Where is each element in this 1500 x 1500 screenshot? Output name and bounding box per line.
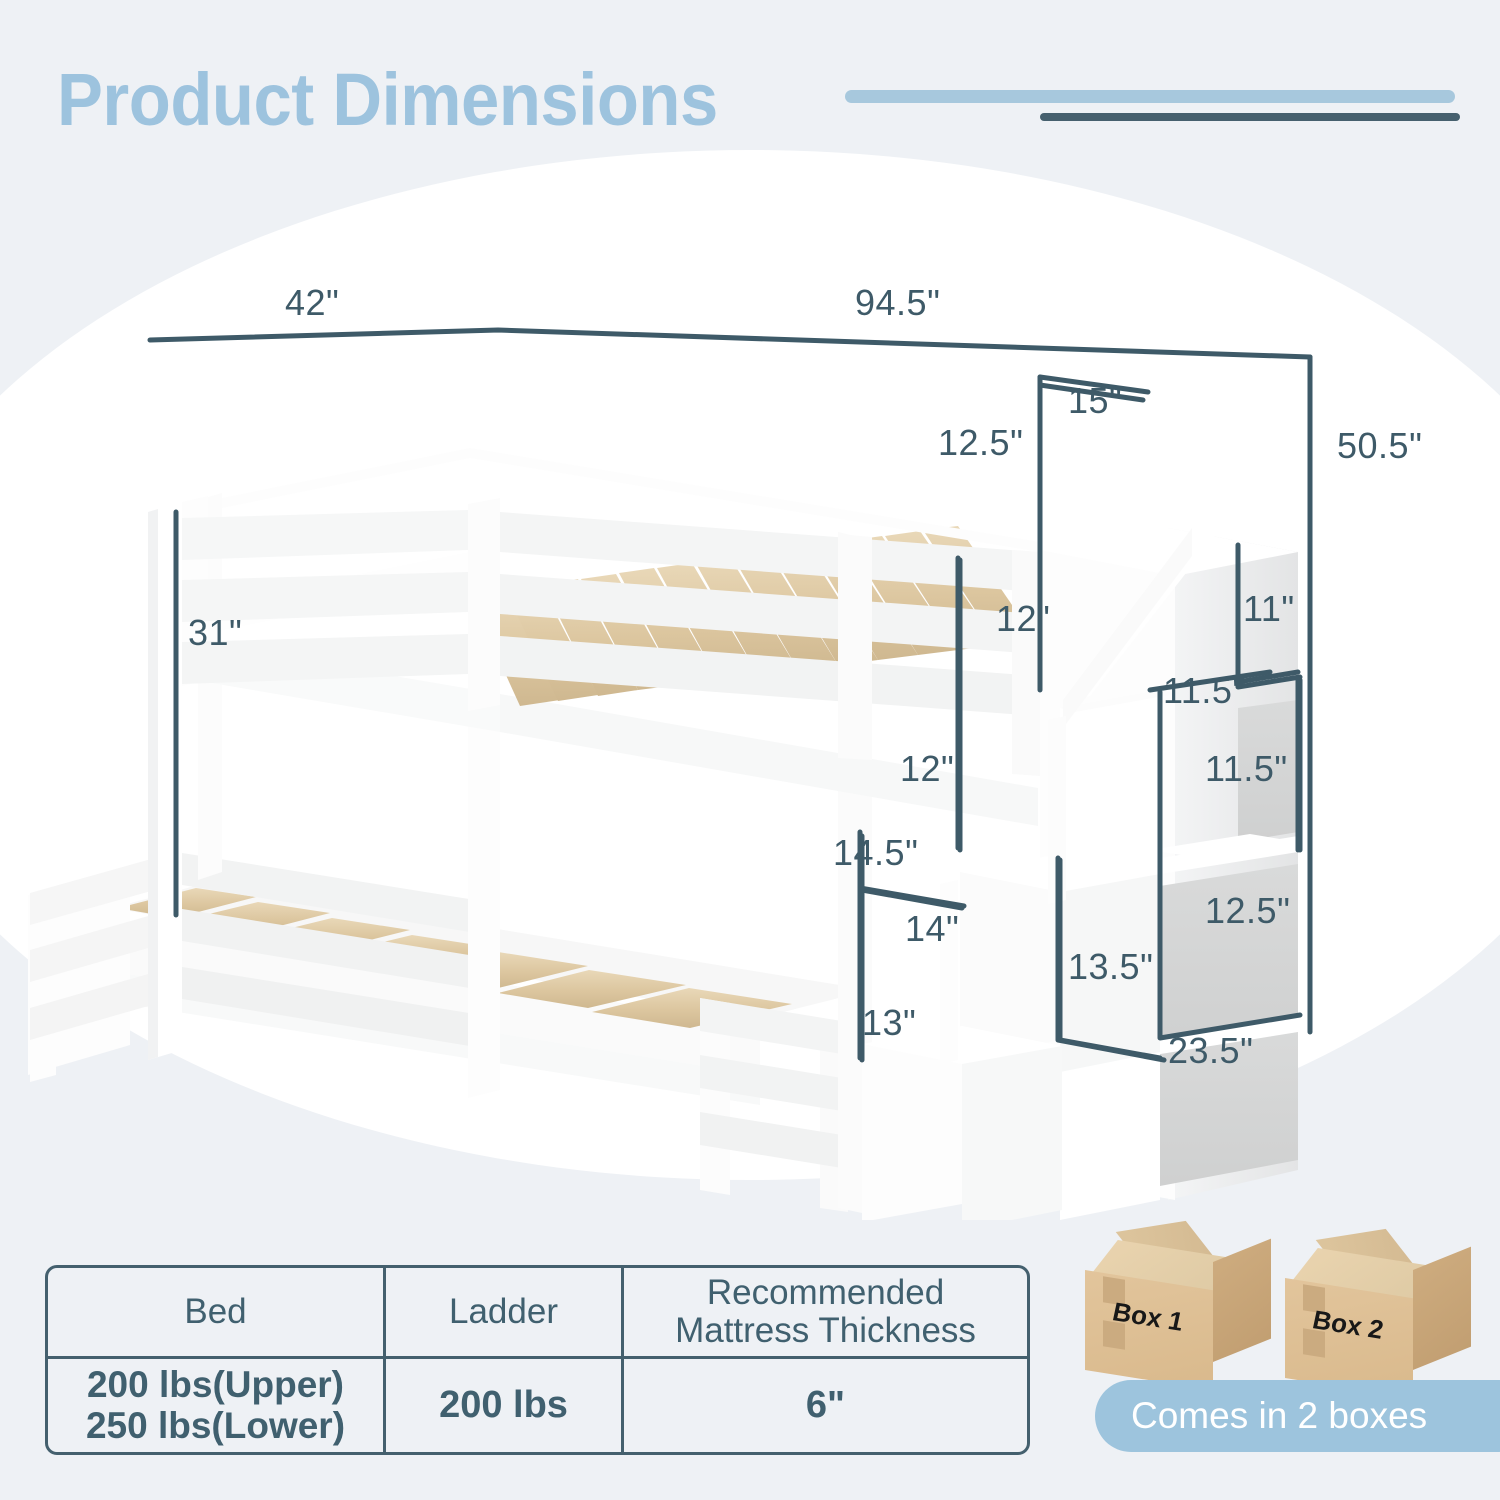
dim-upper-rail-height: 12.5" <box>938 422 1023 464</box>
product-diagram: 42" 94.5" 15" 12.5" 50.5" 31" 12" 11" 11… <box>0 160 1500 1220</box>
spec-value-bed-upper: 200 lbs(Upper) <box>86 1365 345 1406</box>
spec-table: Bed Ladder Recommended Mattress Thicknes… <box>45 1265 1030 1455</box>
dim-upper-guardrail-gap: 15" <box>1068 380 1122 422</box>
dim-overall-height: 50.5" <box>1337 425 1422 467</box>
spec-value-bed: 200 lbs(Upper) 250 lbs(Lower) <box>48 1359 386 1452</box>
spec-value-ladder: 200 lbs <box>386 1359 624 1452</box>
dim-stair-mid-rise: 12" <box>900 748 954 790</box>
dimension-brackets <box>0 160 1500 1220</box>
spec-table-value-row: 200 lbs(Upper) 250 lbs(Lower) 200 lbs 6" <box>48 1359 1027 1452</box>
comes-in-2-boxes-badge: Comes in 2 boxes <box>1095 1380 1500 1452</box>
comes-in-2-boxes-label: Comes in 2 boxes <box>1131 1395 1427 1437</box>
dim-step-height: 13" <box>862 1002 916 1044</box>
packaging-boxes: Box 1 Box 2 <box>1085 1238 1485 1388</box>
spec-header-bed: Bed <box>48 1268 386 1356</box>
header: Product Dimensions <box>0 0 1500 170</box>
dim-cubby-bottom-height: 12.5" <box>1205 890 1290 932</box>
dim-lower-clearance: 31" <box>188 612 242 654</box>
spec-header-mattress-line1: Recommended <box>675 1274 976 1313</box>
spec-table-header-row: Bed Ladder Recommended Mattress Thicknes… <box>48 1268 1027 1359</box>
spec-value-bed-lower: 250 lbs(Lower) <box>86 1406 345 1447</box>
spec-header-mattress: Recommended Mattress Thickness <box>624 1268 1027 1356</box>
shipping-box-1: Box 1 <box>1085 1238 1270 1370</box>
infographic-page: Product Dimensions <box>0 0 1500 1500</box>
spec-header-mattress-line2: Mattress Thickness <box>675 1312 976 1351</box>
dim-staircase-depth: 23.5" <box>1168 1030 1253 1072</box>
header-rule-light <box>845 90 1455 103</box>
header-rule-dark <box>1040 113 1460 121</box>
dim-cubby-bottom-width: 13.5" <box>1068 946 1153 988</box>
dim-step-tread-depth: 14" <box>905 908 959 950</box>
shipping-box-2: Box 2 <box>1285 1246 1470 1378</box>
dim-stair-top-rise: 12" <box>996 598 1050 640</box>
dim-stair-first-rise: 14.5" <box>833 832 918 874</box>
spec-value-mattress: 6" <box>624 1359 1027 1452</box>
dim-bed-depth-top: 42" <box>285 282 339 324</box>
page-title: Product Dimensions <box>57 57 718 142</box>
spec-header-ladder: Ladder <box>386 1268 624 1356</box>
dim-overall-length: 94.5" <box>855 282 940 324</box>
dim-cubby-top-height: 11" <box>1243 588 1295 630</box>
dim-cubby-mid-height: 11.5" <box>1205 748 1288 790</box>
dim-cubby-top-width: 11.5" <box>1163 670 1246 712</box>
